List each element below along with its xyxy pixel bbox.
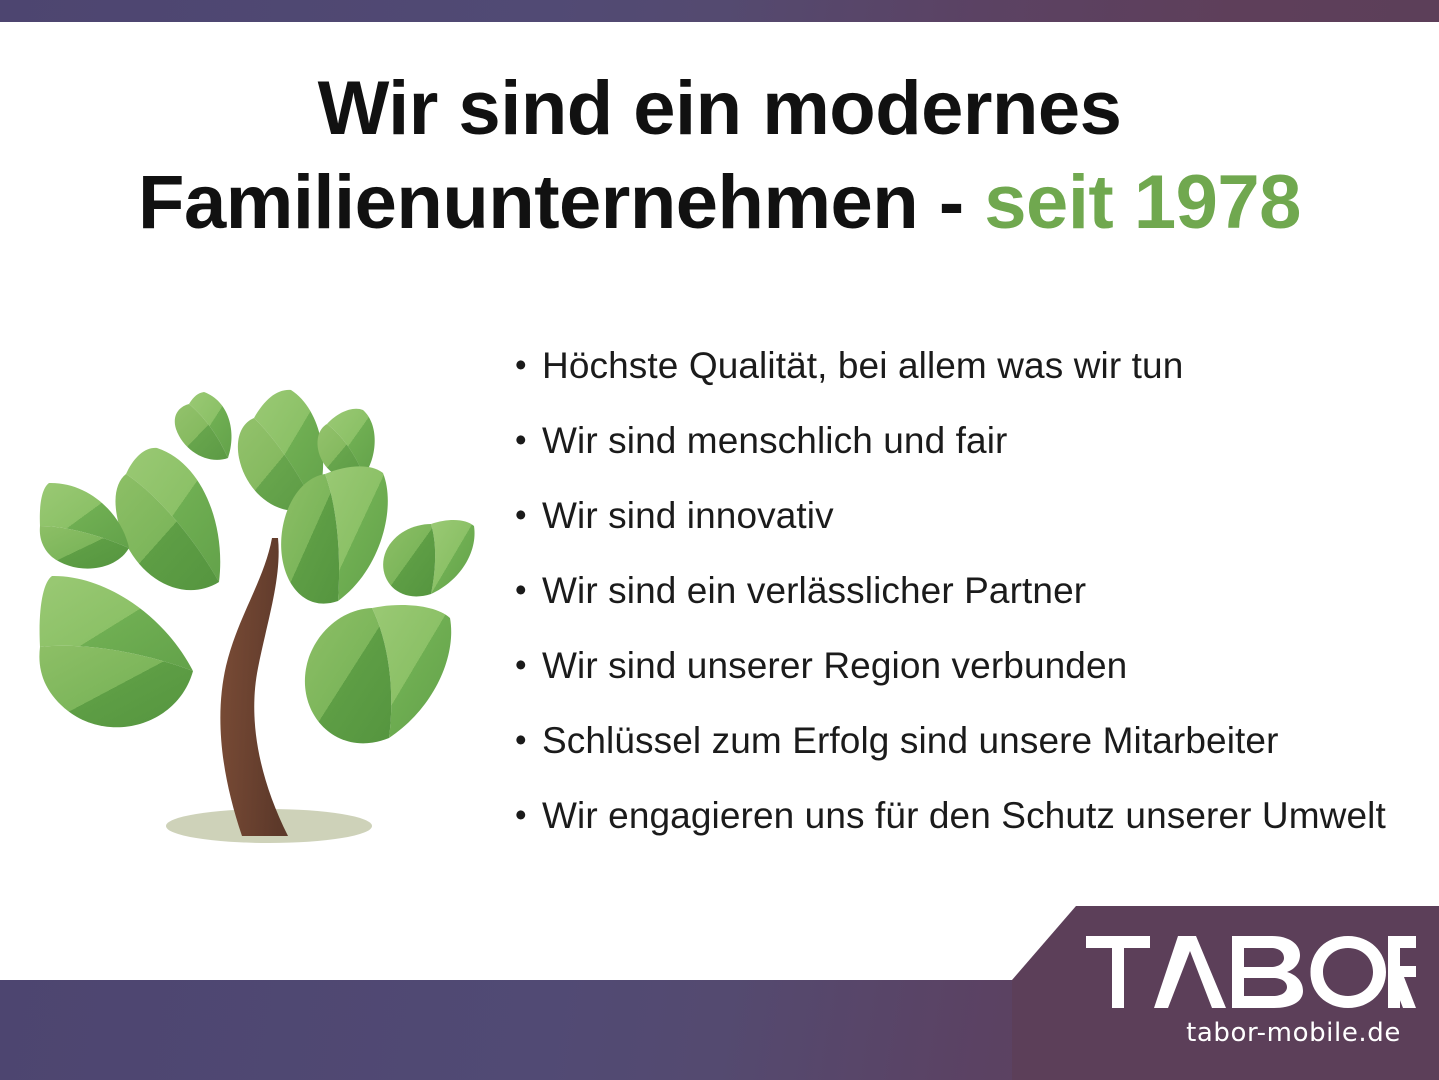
list-item-label: Wir sind innovativ bbox=[542, 494, 1433, 538]
bullet-marker-icon: • bbox=[508, 344, 542, 386]
list-item-label: Wir sind ein verlässlicher Partner bbox=[542, 569, 1433, 613]
tree-leaf bbox=[305, 608, 391, 743]
title-line-2-prefix: Familienunternehmen - bbox=[138, 160, 984, 245]
tree-logo-icon bbox=[26, 366, 496, 854]
title-line-1: Wir sind ein modernes bbox=[0, 62, 1439, 156]
value-bullet-list: • Höchste Qualität, bei allem was wir tu… bbox=[508, 344, 1433, 869]
bullet-marker-icon: • bbox=[508, 569, 542, 611]
list-item-label: Wir sind menschlich und fair bbox=[542, 419, 1433, 463]
title-line-2: Familienunternehmen - seit 1978 bbox=[0, 156, 1439, 250]
bullet-marker-icon: • bbox=[508, 794, 542, 836]
list-item-label: Schlüssel zum Erfolg sind unsere Mitarbe… bbox=[542, 719, 1433, 763]
list-item: • Wir sind innovativ bbox=[508, 494, 1433, 569]
title-line-2-accent: seit 1978 bbox=[984, 160, 1301, 245]
tabor-wordmark-icon bbox=[1086, 936, 1416, 1008]
brand-logo-panel: tabor-mobile.de bbox=[1012, 906, 1439, 1080]
list-item: • Höchste Qualität, bei allem was wir tu… bbox=[508, 344, 1433, 419]
bullet-marker-icon: • bbox=[508, 419, 542, 461]
list-item: • Wir sind menschlich und fair bbox=[508, 419, 1433, 494]
page-title: Wir sind ein modernes Familienunternehme… bbox=[0, 62, 1439, 250]
list-item: • Wir sind ein verlässlicher Partner bbox=[508, 569, 1433, 644]
brand-tagline: tabor-mobile.de bbox=[1012, 1018, 1439, 1048]
list-item: • Wir sind unserer Region verbunden bbox=[508, 644, 1433, 719]
top-accent-bar bbox=[0, 0, 1439, 22]
bullet-marker-icon: • bbox=[508, 644, 542, 686]
list-item-label: Höchste Qualität, bei allem was wir tun bbox=[542, 344, 1433, 388]
list-item: • Wir engagieren uns für den Schutz unse… bbox=[508, 794, 1433, 869]
tree-leaf bbox=[431, 520, 475, 594]
list-item: • Schlüssel zum Erfolg sind unsere Mitar… bbox=[508, 719, 1433, 794]
tree-leaf bbox=[383, 524, 435, 596]
bullet-marker-icon: • bbox=[508, 719, 542, 761]
bullet-marker-icon: • bbox=[508, 494, 542, 536]
tree-trunk bbox=[220, 538, 288, 836]
slide-canvas: Wir sind ein modernes Familienunternehme… bbox=[0, 0, 1439, 1080]
list-item-label: Wir engagieren uns für den Schutz unsere… bbox=[542, 794, 1433, 838]
list-item-label: Wir sind unserer Region verbunden bbox=[542, 644, 1433, 688]
